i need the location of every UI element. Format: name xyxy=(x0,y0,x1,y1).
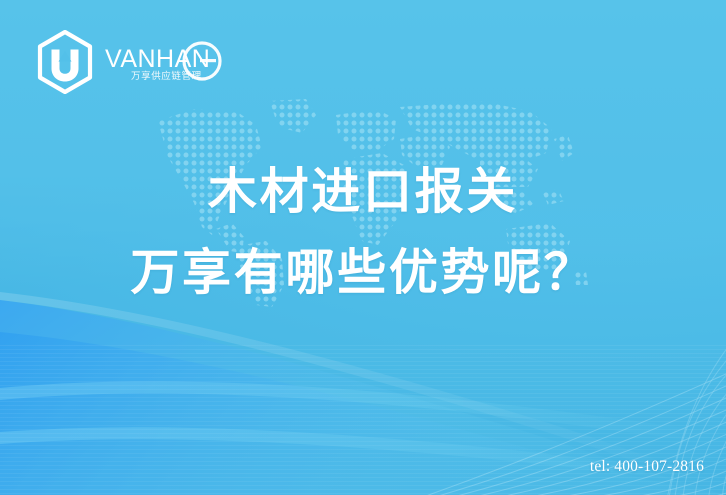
svg-text:VANHAN: VANHAN xyxy=(105,45,210,73)
svg-text:万享供应链管理: 万享供应链管理 xyxy=(131,70,202,82)
headline-line-2: 万享有哪些优势呢？ xyxy=(0,249,726,298)
brand-wordmark: VANHAN 万享供应链管理 xyxy=(105,39,223,85)
headline: 木材进口报关 万享有哪些优势呢？ xyxy=(0,168,726,298)
hexagon-u-logo-icon xyxy=(34,30,96,94)
promo-banner: VANHAN 万享供应链管理 木材进口报关 万享有哪些优势呢？ tel: 400… xyxy=(0,0,726,495)
headline-line-1: 木材进口报关 xyxy=(0,168,726,217)
contact-tel[interactable]: tel: 400-107-2816 xyxy=(590,458,704,476)
brand-logo[interactable]: VANHAN 万享供应链管理 xyxy=(34,30,223,94)
